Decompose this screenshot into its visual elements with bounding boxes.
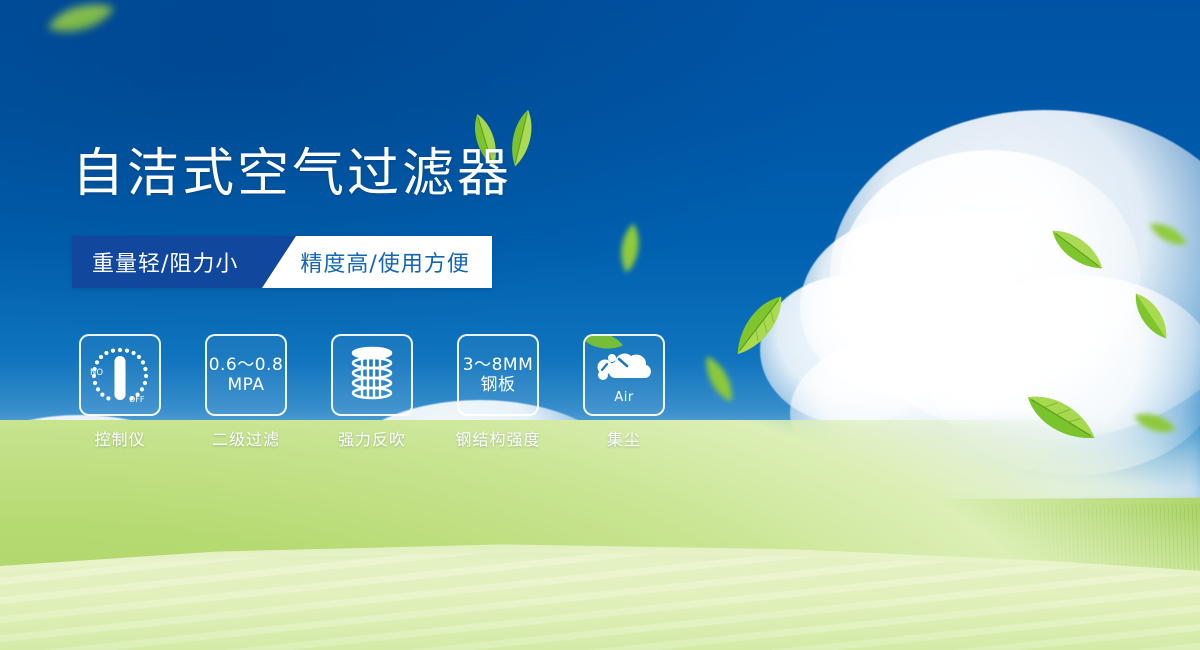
feature-icon-box [331,334,413,416]
feature-item-control-dial[interactable]: NO OFF 控制仪 [78,334,162,450]
dust-cloud-icon [593,349,655,389]
feature-label: 控制仪 [94,426,145,450]
subtitle-left-segment: 重量轻/阻力小 [72,236,262,288]
feature-label: 二级过滤 [212,426,280,450]
feature-icon-box: 3～8MM 钢板 [457,334,539,416]
feature-item-backblow[interactable]: 强力反吹 [330,334,414,450]
feature-item-pressure[interactable]: 0.6～0.8 MPA 二级过滤 [204,334,288,450]
feature-label: 钢结构强度 [456,426,541,450]
dial-off-label: OFF [129,395,145,404]
feature-value-line1: 3～8MM [463,355,533,375]
feature-value-line2: 钢板 [481,375,516,395]
feature-icon-box: NO OFF [79,334,161,416]
feature-icon-box: Air [583,334,665,416]
subtitle-right-segment: 精度高/使用方便 [296,236,491,288]
page-title: 自洁式空气过滤器 [72,148,512,200]
control-dial-icon: NO OFF [85,342,155,408]
feature-item-steel-plate[interactable]: 3～8MM 钢板 钢结构强度 [456,334,540,450]
product-banner: 自洁式空气过滤器 重量轻/阻力小 精度高/使用方便 [0,0,1200,650]
feature-label: 集尘 [607,426,641,450]
feature-icon-box: 0.6～0.8 MPA [205,334,287,416]
feature-value-line2: MPA [228,375,265,395]
dial-on-label: NO [90,368,103,378]
feature-list: NO OFF 控制仪 0.6～0.8 MPA 二级过滤 [78,334,666,450]
subtitle-badge: 重量轻/阻力小 精度高/使用方便 [72,236,492,288]
feature-value-line1: 0.6～0.8 [209,355,284,375]
subtitle-wedge-divider [262,236,296,288]
filter-cartridge-icon [343,344,401,406]
feature-label: 强力反吹 [338,426,406,450]
feature-item-dust-collection[interactable]: Air 集尘 [582,334,666,450]
air-label: Air [614,390,633,405]
sky-vignette [0,0,1200,650]
